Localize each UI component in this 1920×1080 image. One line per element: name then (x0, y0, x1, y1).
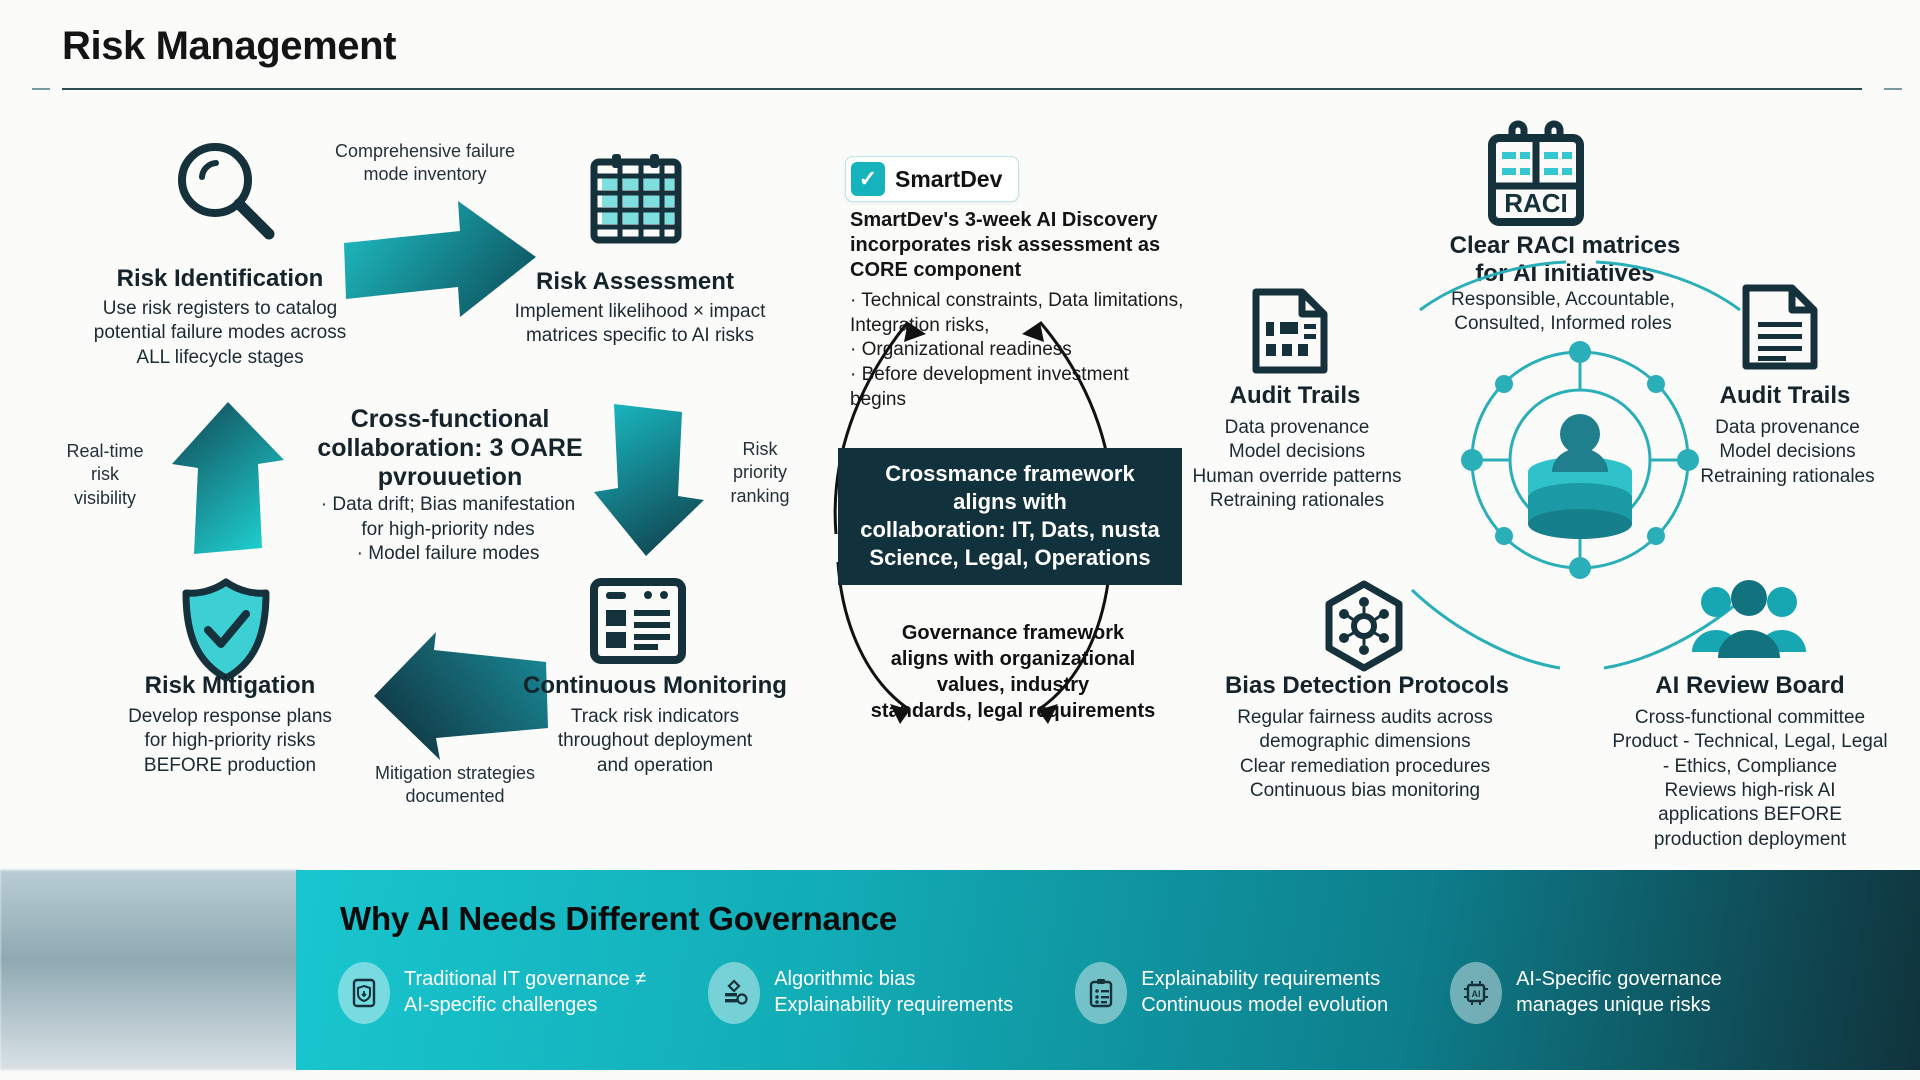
node-title-risk-mitigation: Risk Mitigation (105, 672, 355, 700)
banner-left-fade (0, 870, 300, 1070)
banner-item-3: AI AI-Specific governance manages unique… (1450, 962, 1722, 1024)
node-title-ai-review-board: AI Review Board (1640, 672, 1860, 700)
matrix-grid-icon (590, 152, 682, 244)
node-desc-continuous-monitoring: Track risk indicators throughout deploym… (520, 705, 790, 778)
banner-item-0-text: Traditional IT governance ≠ AI-specific … (404, 967, 646, 1018)
flow-label-left: Real-time risk visibility (50, 440, 160, 510)
node-desc-risk-assessment: Implement likelihood × impact matrices s… (490, 300, 790, 349)
people-group-icon (1690, 580, 1808, 664)
check-icon: ✓ (851, 162, 885, 196)
banner-item-1-text: Algorithmic bias Explainability requirem… (774, 967, 1013, 1018)
node-title-audit-trails-left: Audit Trails (1215, 382, 1375, 410)
banner-item-0: Traditional IT governance ≠ AI-specific … (338, 962, 646, 1024)
infographic-page: Risk Management Risk Identification Use … (0, 0, 1920, 1080)
smartdev-body: SmartDev's 3-week AI Discovery incorpora… (850, 208, 1210, 283)
smartdev-badge-label: SmartDev (895, 166, 1002, 193)
title-divider-dash-right (1884, 88, 1902, 90)
banner-item-1: Algorithmic bias Explainability requirem… (708, 962, 1013, 1024)
clipboard-list-icon (1075, 962, 1127, 1024)
banner-title: Why AI Needs Different Governance (340, 900, 897, 938)
device-shield-icon (338, 962, 390, 1024)
ai-chip-icon: AI (1450, 962, 1502, 1024)
node-title-risk-identification: Risk Identification (60, 265, 380, 293)
document-data-icon (1250, 288, 1330, 374)
banner-item-2: Explainability requirements Continuous m… (1075, 962, 1388, 1024)
flow-label-top: Comprehensive failure mode inventory (300, 140, 550, 187)
magnifier-icon (170, 135, 280, 245)
node-title-risk-assessment: Risk Assessment (505, 268, 765, 296)
center-dark-callout: Crossmance framework aligns with collabo… (838, 448, 1182, 585)
svg-text:AI: AI (1472, 989, 1481, 999)
node-title-bias-detection: Bias Detection Protocols (1222, 672, 1512, 700)
cycle-center-title: Cross-functional collaboration: 3 OARE p… (300, 405, 600, 491)
why-ai-governance-banner: Why AI Needs Different Governance Tradit… (296, 870, 1920, 1070)
banner-item-2-text: Explainability requirements Continuous m… (1141, 967, 1388, 1018)
hexagon-nodes-icon (1320, 580, 1408, 672)
node-title-continuous-monitoring: Continuous Monitoring (510, 672, 800, 700)
node-desc-bias-detection: Regular fairness audits across demograph… (1210, 706, 1520, 803)
banner-items: Traditional IT governance ≠ AI-specific … (338, 962, 1722, 1024)
page-title: Risk Management (62, 24, 396, 69)
cycle-center-block: Cross-functional collaboration: 3 OARE p… (300, 405, 600, 491)
governance-note: Governance framework aligns with organiz… (838, 620, 1188, 724)
raci-icon-label: RACI (1504, 188, 1568, 218)
dashboard-icon (590, 578, 686, 664)
node-desc-ai-review-board: Cross-functional committee Product - Tec… (1590, 706, 1910, 852)
arrow-up-icon (168, 398, 288, 558)
banner-item-3-text: AI-Specific governance manages unique ri… (1516, 967, 1722, 1018)
cycle-center-bullets: · Data drift; Bias manifestation for hig… (288, 493, 608, 567)
raci-calendar-icon: RACI (1488, 124, 1584, 230)
shield-check-icon (178, 578, 274, 684)
smartdev-badge[interactable]: ✓ SmartDev (845, 156, 1019, 202)
title-divider (62, 88, 1862, 90)
title-divider-dash-left (32, 88, 50, 90)
bias-scale-icon (708, 962, 760, 1024)
